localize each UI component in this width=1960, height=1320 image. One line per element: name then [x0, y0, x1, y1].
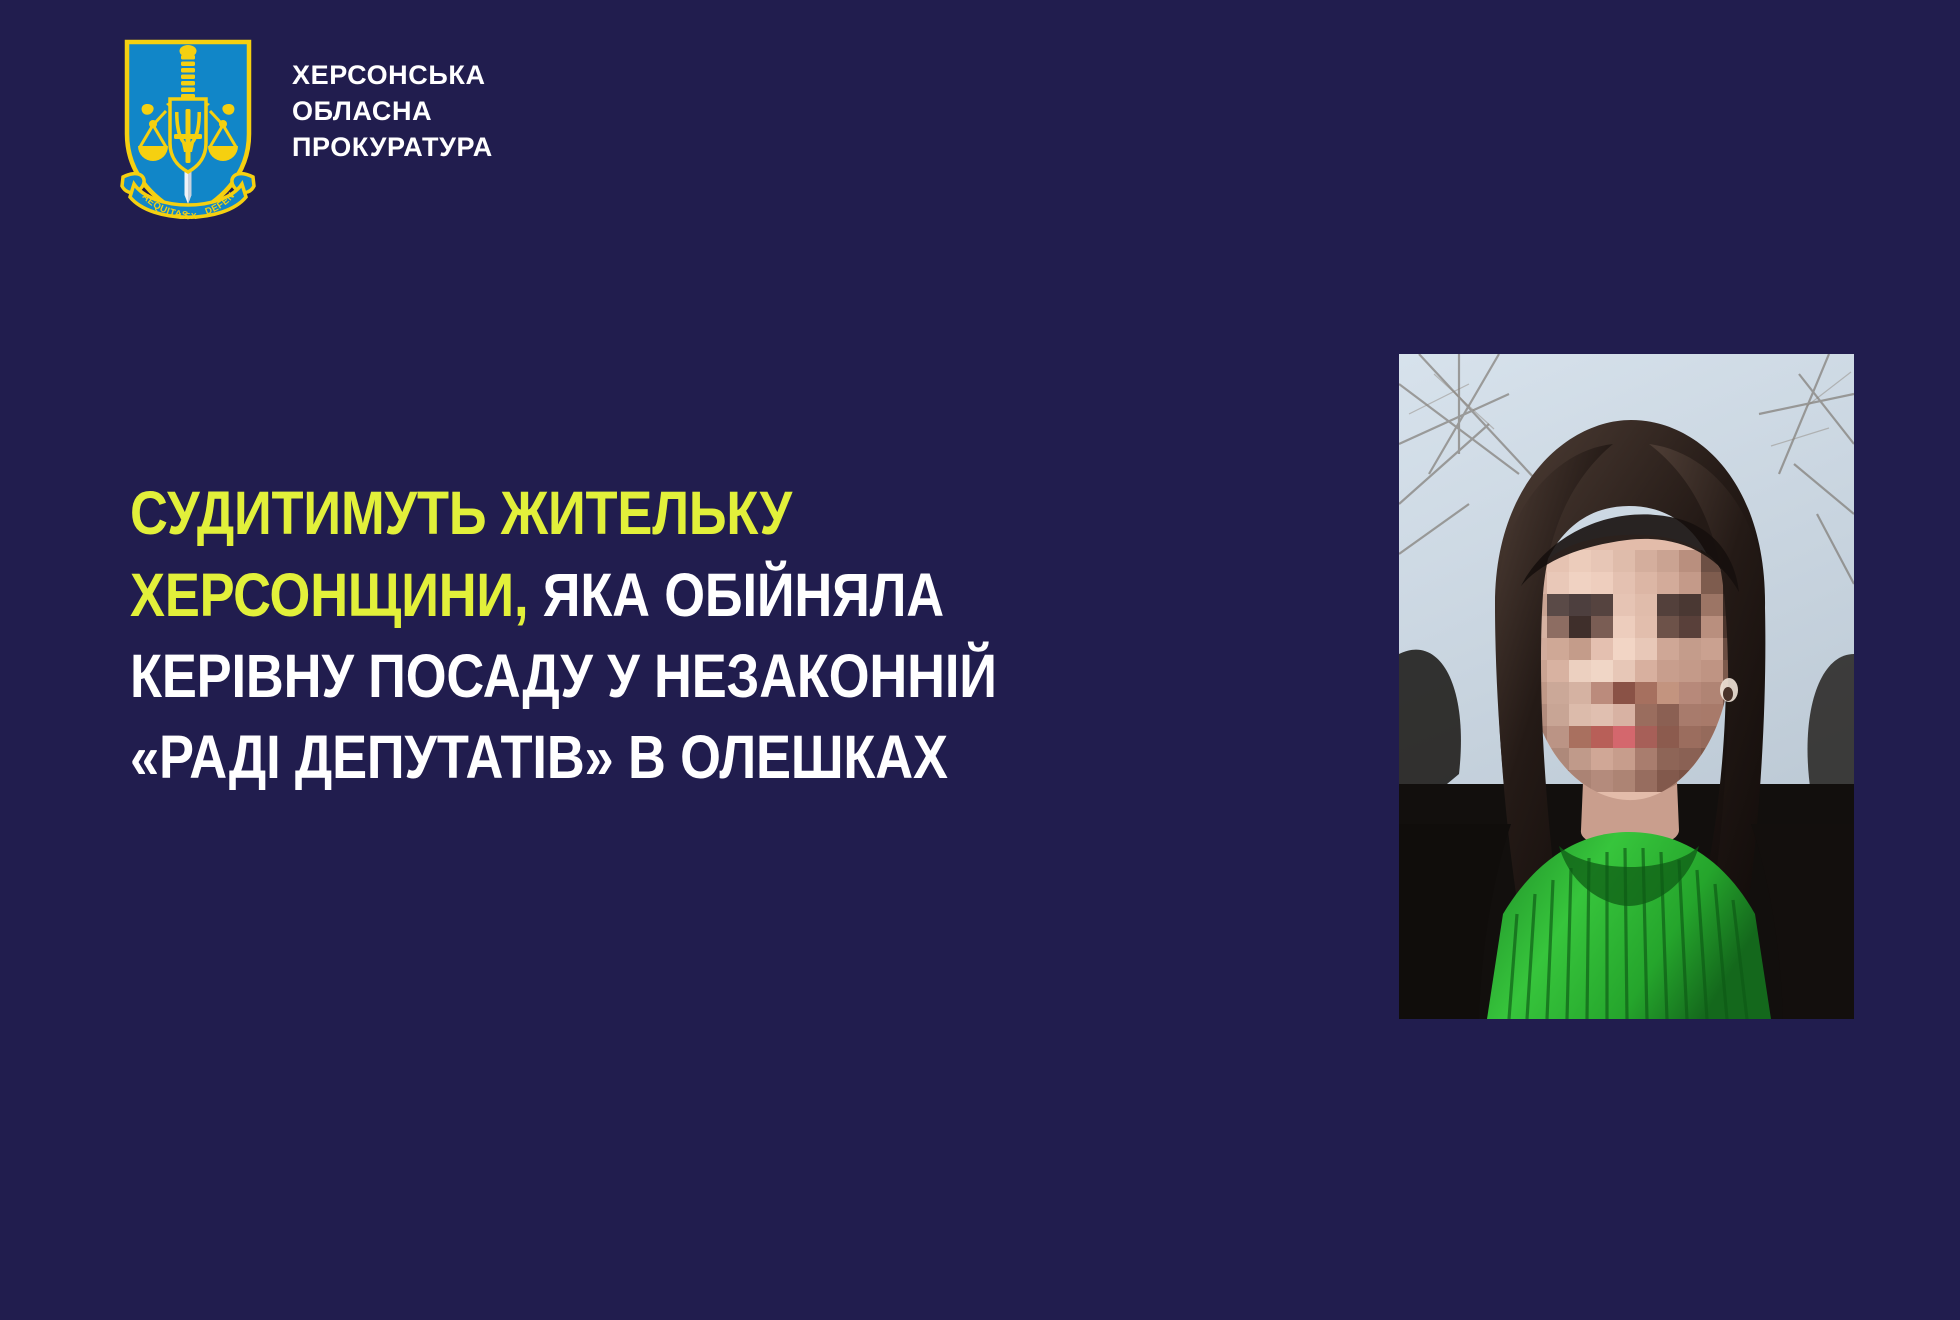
logo-line-2: ОБЛАСНА	[292, 94, 493, 130]
logo-line-3: ПРОКУРАТУРА	[292, 130, 493, 166]
logo-line-1: ХЕРСОНСЬКА	[292, 58, 493, 94]
prosecutor-coat-of-arms-icon: AEQUITAS DEFENSIO LEX	[118, 36, 258, 224]
pixelated-portrait-image	[1399, 354, 1854, 1019]
organization-name: ХЕРСОНСЬКА ОБЛАСНА ПРОКУРАТУРА	[292, 58, 493, 166]
headline-seg: «РАДІ ДЕПУТАТІВ» В ОЛЕШКАХ	[130, 723, 948, 791]
headline-line-1: СУДИТИМУТЬ ЖИТЕЛЬКУ	[130, 473, 956, 554]
headline-seg: ХЕРСОНЩИНИ,	[130, 561, 528, 629]
subject-photo	[1399, 354, 1854, 1019]
motto-center: LEX	[179, 211, 197, 221]
headline-line-2: ХЕРСОНЩИНИ, ЯКА ОБІЙНЯЛА	[130, 555, 956, 636]
headline: СУДИТИМУТЬ ЖИТЕЛЬКУ ХЕРСОНЩИНИ, ЯКА ОБІЙ…	[130, 473, 1090, 798]
organization-logo: AEQUITAS DEFENSIO LEX ХЕРСОНСЬКА ОБЛАСНА…	[118, 36, 493, 224]
headline-line-4: «РАДІ ДЕПУТАТІВ» В ОЛЕШКАХ	[130, 717, 956, 798]
headline-seg: КЕРІВНУ ПОСАДУ У НЕЗАКОННІЙ	[130, 642, 997, 710]
news-poster: AEQUITAS DEFENSIO LEX ХЕРСОНСЬКА ОБЛАСНА…	[0, 0, 1960, 1320]
headline-seg: ЯКА ОБІЙНЯЛА	[528, 561, 944, 629]
headline-seg: СУДИТИМУТЬ ЖИТЕЛЬКУ	[130, 479, 792, 547]
headline-line-3: КЕРІВНУ ПОСАДУ У НЕЗАКОННІЙ	[130, 636, 956, 717]
